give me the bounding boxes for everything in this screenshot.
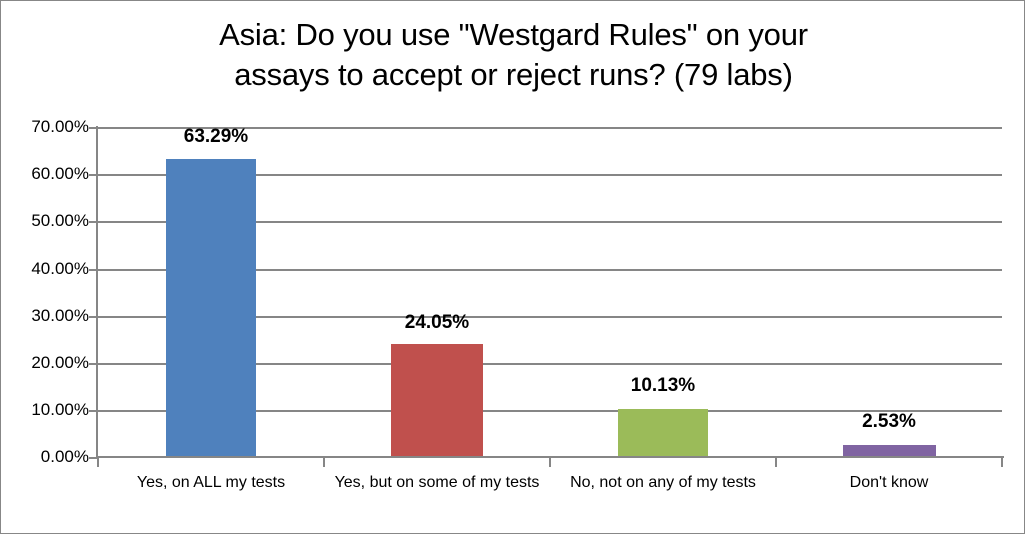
x-tick-mark-3 <box>775 457 777 467</box>
y-axis: 70.00% 60.00% 50.00% 40.00% 30.00% 20.00… <box>1 1 89 534</box>
y-tick-label-10: 10.00% <box>5 400 89 420</box>
x-category-label-3: Don't know <box>776 471 1002 494</box>
y-tick-label-70: 70.00% <box>5 117 89 137</box>
bar-value-label-3: 2.53% <box>789 411 989 433</box>
x-category-label-2: No, not on any of my tests <box>550 471 776 494</box>
chart-title: Asia: Do you use "Westgard Rules" on you… <box>61 15 966 95</box>
x-tick-mark-1 <box>323 457 325 467</box>
bar-yes-some-tests[interactable] <box>391 344 483 457</box>
x-tick-mark-0 <box>97 457 99 467</box>
plot-area <box>98 127 1002 457</box>
x-category-label-0: Yes, on ALL my tests <box>98 471 324 494</box>
bar-value-label-1: 24.05% <box>337 312 537 334</box>
bar-yes-all-tests[interactable] <box>166 159 256 457</box>
bar-no-any-tests[interactable] <box>618 409 708 457</box>
y-tick-label-0: 0.00% <box>5 447 89 467</box>
x-category-label-1: Yes, but on some of my tests <box>324 471 550 494</box>
bar-value-label-2: 10.13% <box>563 375 763 397</box>
y-tick-label-30: 30.00% <box>5 306 89 326</box>
y-tick-label-40: 40.00% <box>5 259 89 279</box>
y-tick-label-20: 20.00% <box>5 353 89 373</box>
x-tick-mark-4 <box>1001 457 1003 467</box>
x-tick-mark-2 <box>549 457 551 467</box>
y-axis-line <box>96 126 98 459</box>
chart-container: Asia: Do you use "Westgard Rules" on you… <box>0 0 1025 534</box>
y-tick-label-60: 60.00% <box>5 164 89 184</box>
bar-value-label-0: 63.29% <box>116 126 316 148</box>
y-tick-label-50: 50.00% <box>5 211 89 231</box>
